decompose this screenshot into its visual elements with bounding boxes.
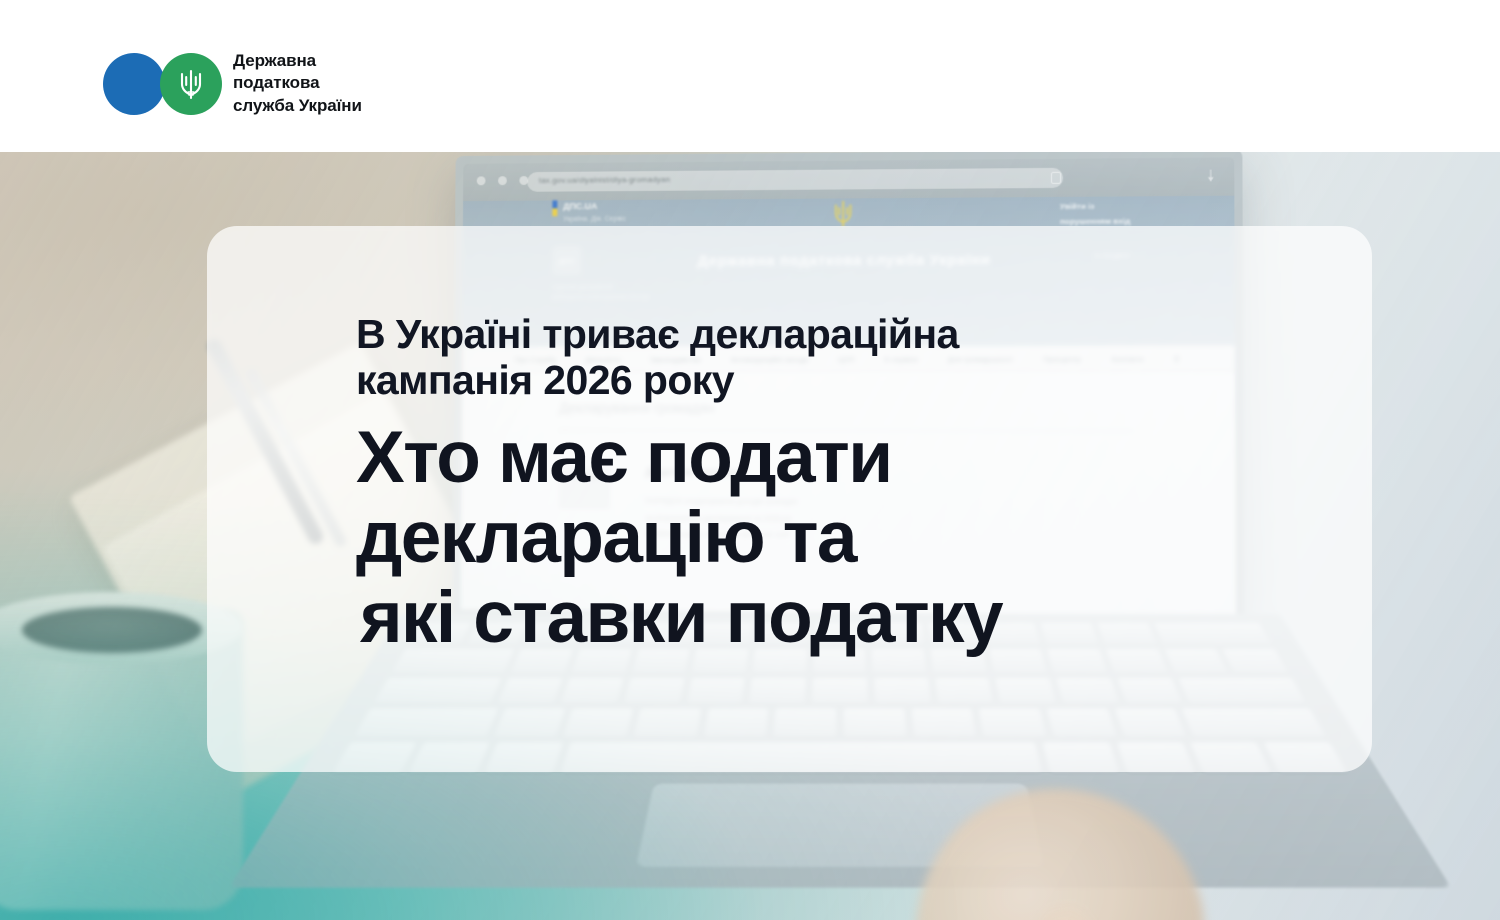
- browser-toolbar: tax.gov.ua/diyalnist/dlya-gromadyan: [463, 157, 1234, 201]
- logo-text-line2: податкова: [233, 72, 362, 94]
- banner-headline-line1: Хто має подати: [356, 418, 1356, 498]
- banner-eyebrow: В Україні триває деклараційна кампанія 2…: [356, 312, 1356, 404]
- logo-text-line3: служба України: [233, 95, 362, 117]
- back-arrow-icon: [477, 176, 486, 185]
- site-login-line1: Увійти із: [1060, 202, 1094, 211]
- green-circle-icon: [160, 53, 222, 115]
- trident-icon: [832, 200, 854, 228]
- banner-eyebrow-line2: кампанія 2026 року: [356, 357, 734, 403]
- dps-logo[interactable]: Державна податкова служба України: [103, 50, 362, 117]
- banner-headline-line3: які ставки податку: [356, 578, 1356, 658]
- site-brand-name: ДПС.UA: [563, 200, 597, 212]
- logo-marks: [103, 53, 225, 115]
- banner-headline-line2: декларацію та: [356, 498, 1356, 578]
- trident-icon: [178, 68, 204, 100]
- banner-text-block: В Україні триває деклараційна кампанія 2…: [356, 312, 1356, 659]
- site-login-block: Увійти із порушенням вхід: [1060, 198, 1130, 229]
- banner-headline: Хто має подати декларацію та які ставки …: [356, 418, 1356, 659]
- blue-circle-icon: [103, 53, 165, 115]
- site-brand: ДПС.UA: [552, 200, 597, 216]
- banner-canvas: tax.gov.ua/diyalnist/dlya-gromadyan ДПС.…: [0, 0, 1500, 920]
- url-text: tax.gov.ua/diyalnist/dlya-gromadyan: [539, 175, 670, 185]
- flag-icon: [552, 200, 557, 216]
- bookmark-icon: [1051, 172, 1061, 184]
- logo-text: Державна податкова служба України: [233, 50, 362, 117]
- download-icon: [1206, 170, 1216, 182]
- browser-nav-icons: [477, 176, 529, 185]
- url-bar: tax.gov.ua/diyalnist/dlya-gromadyan: [527, 168, 1063, 192]
- forward-arrow-icon: [498, 176, 507, 185]
- site-brand-subtitle: Україна. Дія. Сервіс: [563, 216, 626, 223]
- coffee-surface: [22, 607, 202, 653]
- banner-eyebrow-line1: В Україні триває деклараційна: [356, 311, 959, 357]
- site-login-line2: порушенням вхід: [1060, 217, 1130, 226]
- page-header: Державна податкова служба України: [0, 0, 1500, 152]
- logo-text-line1: Державна: [233, 50, 362, 72]
